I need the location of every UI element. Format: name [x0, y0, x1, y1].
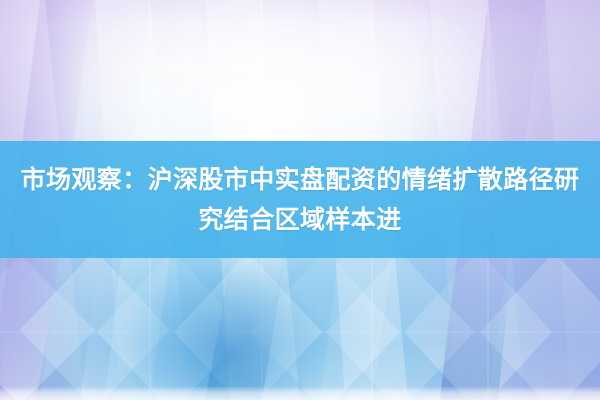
cover-image: 市场观察：沪深股市中实盘配资的情绪扩散路径研 究结合区域样本进	[0, 0, 600, 400]
title-banner: 市场观察：沪深股市中实盘配资的情绪扩散路径研 究结合区域样本进	[0, 141, 600, 258]
title-banner-inner: 市场观察：沪深股市中实盘配资的情绪扩散路径研 究结合区域样本进	[0, 160, 600, 240]
bottom-fade-strip	[0, 386, 600, 400]
title-line-2: 究结合区域样本进	[4, 200, 596, 240]
title-line-1: 市场观察：沪深股市中实盘配资的情绪扩散路径研	[4, 160, 596, 200]
